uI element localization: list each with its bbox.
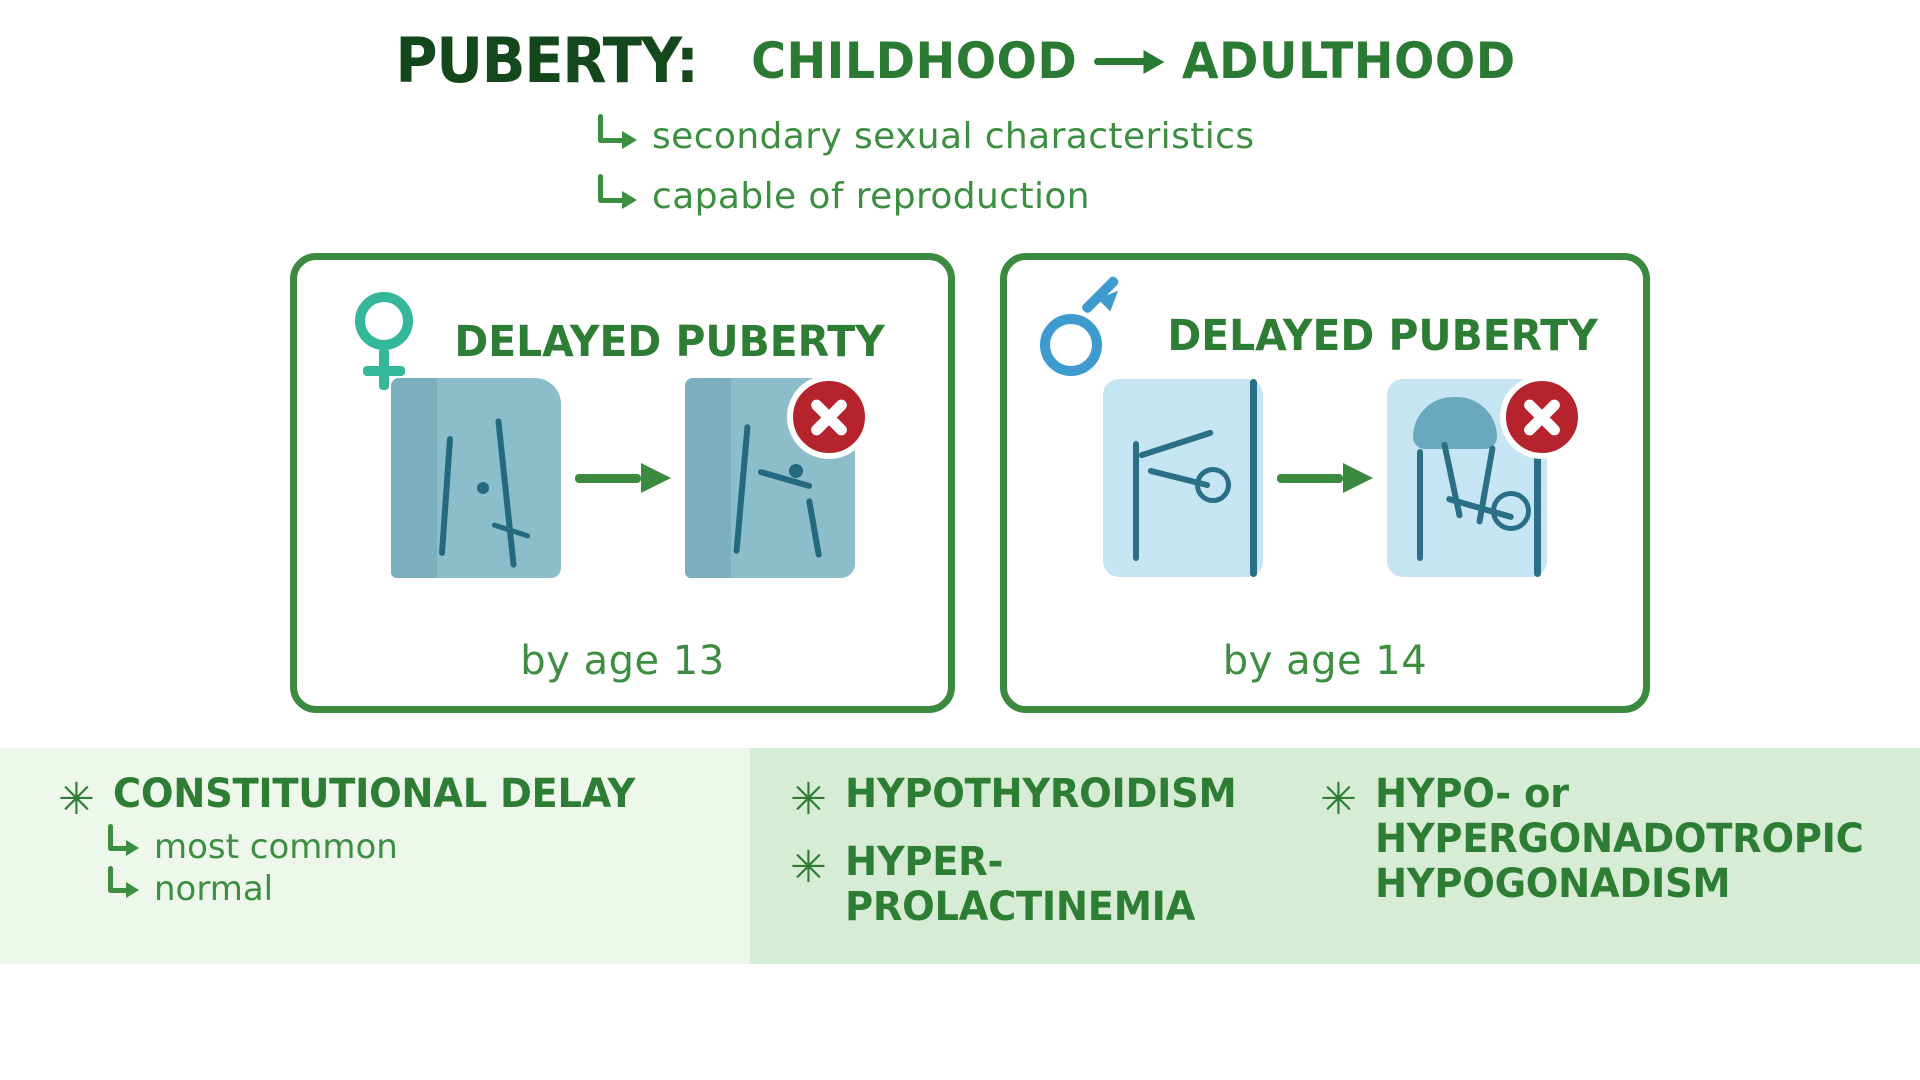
subtitle-line-1: secondary sexual characteristics: [596, 116, 1255, 157]
cause-item-hyperprolactinemia: ✳ HYPER- PROLACTINEMIA: [790, 840, 1310, 930]
red-x-icon-male: [1500, 375, 1584, 459]
header: PUBERTY: CHILDHOOD ADULTHOOD secondary s…: [0, 0, 1920, 245]
prepubertal-male-illustration: [1103, 379, 1263, 577]
subtitle-line-2: capable of reproduction: [596, 176, 1090, 217]
prepubertal-female-torso-illustration: [391, 378, 561, 578]
subtitle-2-text: capable of reproduction: [652, 176, 1090, 217]
card-header-male: DELAYED PUBERTY: [1007, 292, 1643, 380]
hypogonadism-line-2: HYPERGONADOTROPIC: [1375, 816, 1864, 862]
cause-heading-hyperprolactinemia: HYPER- PROLACTINEMIA: [845, 840, 1195, 930]
hook-arrow-icon: [596, 180, 638, 214]
title-adulthood: ADULTHOOD: [1182, 36, 1516, 86]
hook-arrow-icon: [106, 832, 142, 860]
title-childhood: CHILDHOOD: [751, 36, 1077, 86]
hypogonadism-line-3: HYPOGONADISM: [1375, 861, 1730, 907]
causes-column-endocrine: ✳ HYPOTHYROIDISM ✳ HYPER- PROLACTINEMIA: [790, 748, 1310, 964]
hypogonadism-line-1: HYPO- or: [1375, 771, 1569, 817]
right-arrow-icon: [1095, 48, 1165, 74]
cause-sub-text-normal: normal: [154, 872, 273, 906]
male-symbol-icon: [1040, 292, 1132, 380]
card-delayed-puberty-male: DELAYED PUBERTY by age 14: [1000, 253, 1650, 713]
card-caption-male: by age 14: [1007, 638, 1673, 684]
card-title-female: DELAYED PUBERTY: [454, 317, 884, 367]
cause-sub-most-common: most common: [106, 830, 748, 864]
causes-column-gonadal: ✳ HYPO- or HYPERGONADOTROPIC HYPOGONADIS…: [1320, 748, 1900, 964]
cause-sub-normal: normal: [106, 872, 748, 906]
hook-arrow-icon: [106, 874, 142, 902]
page-title: PUBERTY: CHILDHOOD ADULTHOOD: [0, 30, 1920, 92]
stage-arrow-icon-male: [1277, 463, 1373, 493]
asterisk-bullet-icon: ✳: [790, 846, 827, 890]
red-x-icon-female: [787, 375, 871, 459]
cause-heading-hypogonadism: HYPO- or HYPERGONADOTROPIC HYPOGONADISM: [1375, 772, 1864, 906]
causes-bands: ✳ CONSTITUTIONAL DELAY most common norma…: [0, 748, 1920, 964]
title-subject: CHILDHOOD ADULTHOOD: [751, 36, 1515, 86]
card-delayed-puberty-female: DELAYED PUBERTY by age 13: [290, 253, 955, 713]
cause-item-hypogonadism: ✳ HYPO- or HYPERGONADOTROPIC HYPOGONADIS…: [1320, 772, 1900, 906]
cause-heading-constitutional-delay: CONSTITUTIONAL DELAY: [113, 772, 635, 817]
cause-item-hypothyroidism: ✳ HYPOTHYROIDISM: [790, 772, 1310, 822]
asterisk-bullet-icon: ✳: [1320, 778, 1357, 822]
asterisk-bullet-icon: ✳: [58, 778, 95, 822]
asterisk-bullet-icon: ✳: [790, 778, 827, 822]
causes-column-constitutional: ✳ CONSTITUTIONAL DELAY most common norma…: [58, 748, 748, 964]
card-title-male: DELAYED PUBERTY: [1168, 311, 1598, 361]
cause-heading-hypothyroidism: HYPOTHYROIDISM: [845, 772, 1236, 817]
card-caption-female: by age 13: [297, 638, 1008, 684]
title-main: PUBERTY:: [396, 30, 698, 92]
hook-arrow-icon: [596, 120, 638, 154]
cause-item-constitutional-delay: ✳ CONSTITUTIONAL DELAY: [58, 772, 748, 822]
stage-arrow-icon-female: [575, 463, 671, 493]
cause-sub-text-most-common: most common: [154, 830, 398, 864]
subtitle-1-text: secondary sexual characteristics: [652, 116, 1255, 157]
